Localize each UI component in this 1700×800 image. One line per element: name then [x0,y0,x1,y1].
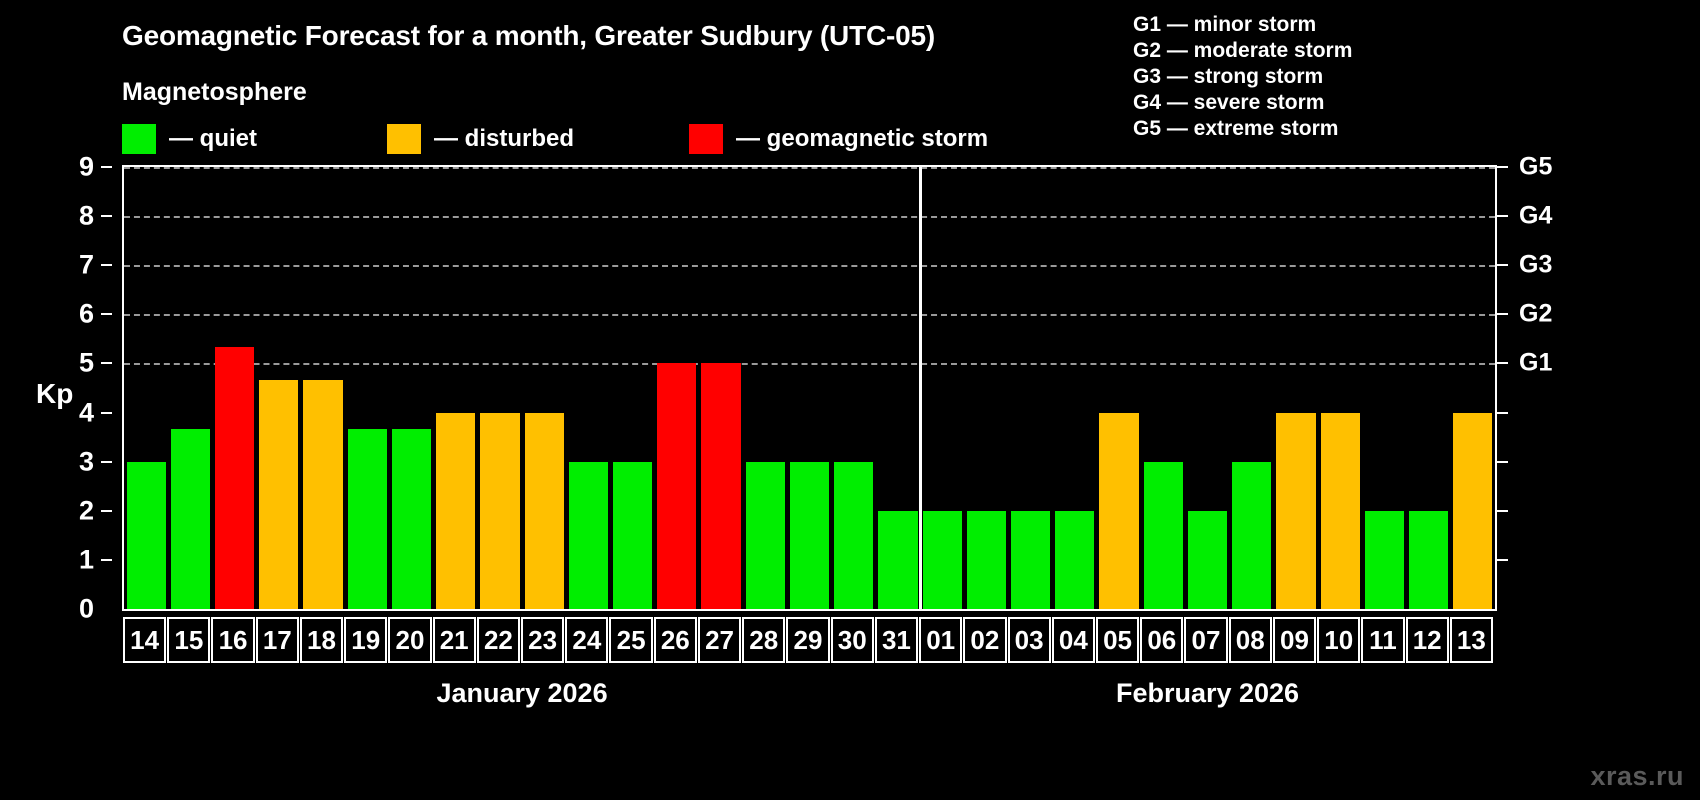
day-label-29: 29 [786,617,829,663]
y-tick-label-4: 4 [79,397,94,428]
bar-day-05 [1099,413,1138,609]
day-label-10: 10 [1317,617,1360,663]
bar-day-10 [1321,413,1360,609]
day-label-11: 11 [1361,617,1404,663]
g-axis-label-G5: G5 [1519,153,1552,182]
g-axis-tick-G1 [1497,362,1508,364]
day-label-02: 02 [963,617,1006,663]
bar-day-18 [303,380,342,609]
g-scale-legend-row-2: G2 — moderate storm [1133,38,1352,64]
bar-day-03 [1011,511,1050,609]
day-label-12: 12 [1406,617,1449,663]
day-label-26: 26 [654,617,697,663]
day-label-31: 31 [875,617,918,663]
disturbed-swatch [387,124,421,154]
plot-inner [124,167,1495,609]
y-tick-mark-5 [101,362,112,364]
day-label-03: 03 [1008,617,1051,663]
day-label-17: 17 [256,617,299,663]
y-axis-title: Kp [36,378,73,410]
day-label-19: 19 [344,617,387,663]
bar-day-25 [613,462,652,609]
bars-layer [124,167,1495,609]
legend-label: — geomagnetic storm [736,125,988,153]
g-axis-tick-G5 [1497,166,1508,168]
bar-day-21 [436,413,475,609]
quiet-swatch [122,124,156,154]
day-label-16: 16 [211,617,254,663]
g-axis-label-G2: G2 [1519,300,1552,329]
g-axis-label-G3: G3 [1519,251,1552,280]
bar-day-16 [215,347,254,609]
day-label-09: 09 [1273,617,1316,663]
g-axis-label-G1: G1 [1519,349,1552,378]
bar-day-01 [923,511,962,609]
g-scale-legend-row-3: G3 — strong storm [1133,64,1352,90]
day-label-06: 06 [1140,617,1183,663]
bar-day-28 [746,462,785,609]
g-scale-legend-row-5: G5 — extreme storm [1133,116,1352,142]
bar-day-07 [1188,511,1227,609]
day-label-21: 21 [433,617,476,663]
page-title: Geomagnetic Forecast for a month, Greate… [122,20,935,52]
legend-entry-disturbed: — disturbed [387,122,574,156]
g-axis-minor-tick-kp-2 [1497,510,1508,512]
day-label-24: 24 [565,617,608,663]
day-label-05: 05 [1096,617,1139,663]
legend-entry-quiet: — quiet [122,122,257,156]
day-label-25: 25 [609,617,652,663]
bar-day-17 [259,380,298,609]
bar-day-12 [1409,511,1448,609]
bar-day-27 [701,363,740,609]
y-tick-mark-3 [101,461,112,463]
g-axis-tick-G3 [1497,264,1508,266]
day-label-01: 01 [919,617,962,663]
y-tick-label-3: 3 [79,446,94,477]
magnetosphere-legend: — quiet— disturbed— geomagnetic storm [122,122,988,156]
day-label-07: 07 [1184,617,1227,663]
y-tick-label-2: 2 [79,495,94,526]
day-label-18: 18 [300,617,343,663]
day-label-30: 30 [831,617,874,663]
bar-day-19 [348,429,387,609]
g-axis-tick-G4 [1497,215,1508,217]
day-label-14: 14 [123,617,166,663]
bar-day-15 [171,429,210,609]
y-tick-mark-8 [101,215,112,217]
day-label-20: 20 [388,617,431,663]
day-label-28: 28 [742,617,785,663]
day-label-23: 23 [521,617,564,663]
bar-day-29 [790,462,829,609]
g-scale-axis: G1G2G3G4G5 [1497,165,1617,611]
bar-day-09 [1276,413,1315,609]
day-label-04: 04 [1052,617,1095,663]
y-tick-mark-2 [101,510,112,512]
month-label-february: February 2026 [920,678,1495,709]
y-tick-mark-9 [101,166,112,168]
bar-day-24 [569,462,608,609]
bar-day-13 [1453,413,1492,609]
bar-day-14 [127,462,166,609]
g-axis-tick-G2 [1497,313,1508,315]
y-tick-label-6: 6 [79,299,94,330]
day-label-22: 22 [477,617,520,663]
day-label-row: 1415161718192021222324252627282930310102… [122,617,1493,663]
bar-day-08 [1232,462,1271,609]
y-tick-label-8: 8 [79,201,94,232]
g-axis-label-G4: G4 [1519,202,1552,231]
legend-label: — disturbed [434,125,574,153]
month-label-january: January 2026 [124,678,920,709]
legend-label: — quiet [169,125,257,153]
y-tick-label-0: 0 [79,594,94,625]
bar-day-23 [525,413,564,609]
bar-day-30 [834,462,873,609]
y-tick-mark-1 [101,559,112,561]
g-scale-legend-row-4: G4 — severe storm [1133,90,1352,116]
bar-day-04 [1055,511,1094,609]
bar-day-11 [1365,511,1404,609]
y-tick-mark-4 [101,412,112,414]
storm-swatch [689,124,723,154]
g-axis-minor-tick-kp-1 [1497,559,1508,561]
day-label-13: 13 [1450,617,1493,663]
bar-day-31 [878,511,917,609]
day-label-15: 15 [167,617,210,663]
legend-entry-geomagneticstorm: — geomagnetic storm [689,122,988,156]
y-tick-label-1: 1 [79,544,94,575]
magnetosphere-heading: Magnetosphere [122,78,307,107]
bar-day-26 [657,363,696,609]
watermark: xras.ru [1590,761,1684,792]
g-scale-legend: G1 — minor stormG2 — moderate stormG3 — … [1133,12,1352,142]
y-tick-mark-7 [101,264,112,266]
g-axis-minor-tick-kp-3 [1497,461,1508,463]
y-tick-label-5: 5 [79,348,94,379]
bar-day-02 [967,511,1006,609]
y-tick-label-7: 7 [79,250,94,281]
y-tick-label-9: 9 [79,152,94,183]
bar-day-06 [1144,462,1183,609]
day-label-27: 27 [698,617,741,663]
y-tick-mark-6 [101,313,112,315]
month-separator-line [919,167,922,609]
bar-day-20 [392,429,431,609]
plot-area [122,165,1497,611]
day-label-08: 08 [1229,617,1272,663]
g-scale-legend-row-1: G1 — minor storm [1133,12,1352,38]
g-axis-minor-tick-kp-4 [1497,412,1508,414]
bar-day-22 [480,413,519,609]
